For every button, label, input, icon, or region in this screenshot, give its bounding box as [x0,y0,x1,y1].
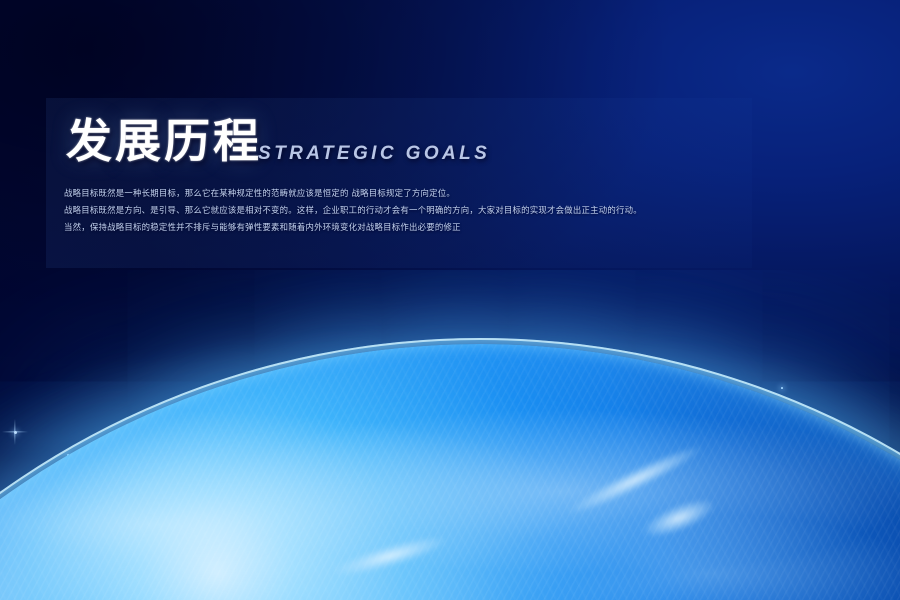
earth-atmospheric-rim [0,338,900,600]
body-line-1: 战略目标既然是一种长期目标，那么它在某种规定性的范畴就应该是恒定的 战略目标规定… [64,185,764,202]
page-title: 发展历程 [66,118,262,164]
banner-canvas: 发展历程 STRATEGIC GOALS 战略目标既然是一种长期目标，那么它在某… [0,0,900,600]
body-copy: 战略目标既然是一种长期目标，那么它在某种规定性的范畴就应该是恒定的 战略目标规定… [64,185,764,236]
earth-layer [0,270,900,600]
earth-globe [0,344,900,600]
page-subtitle: STRATEGIC GOALS [258,143,490,165]
body-line-2: 战略目标既然是方向、是引导、那么它就应该是相对不变的。这样，企业职工的行动才会有… [64,202,764,219]
headline-group: 发展历程 STRATEGIC GOALS [66,118,490,164]
body-line-3: 当然，保持战略目标的稳定性并不排斥与能够有弹性要素和随着内外环境变化对战略目标作… [64,219,764,236]
